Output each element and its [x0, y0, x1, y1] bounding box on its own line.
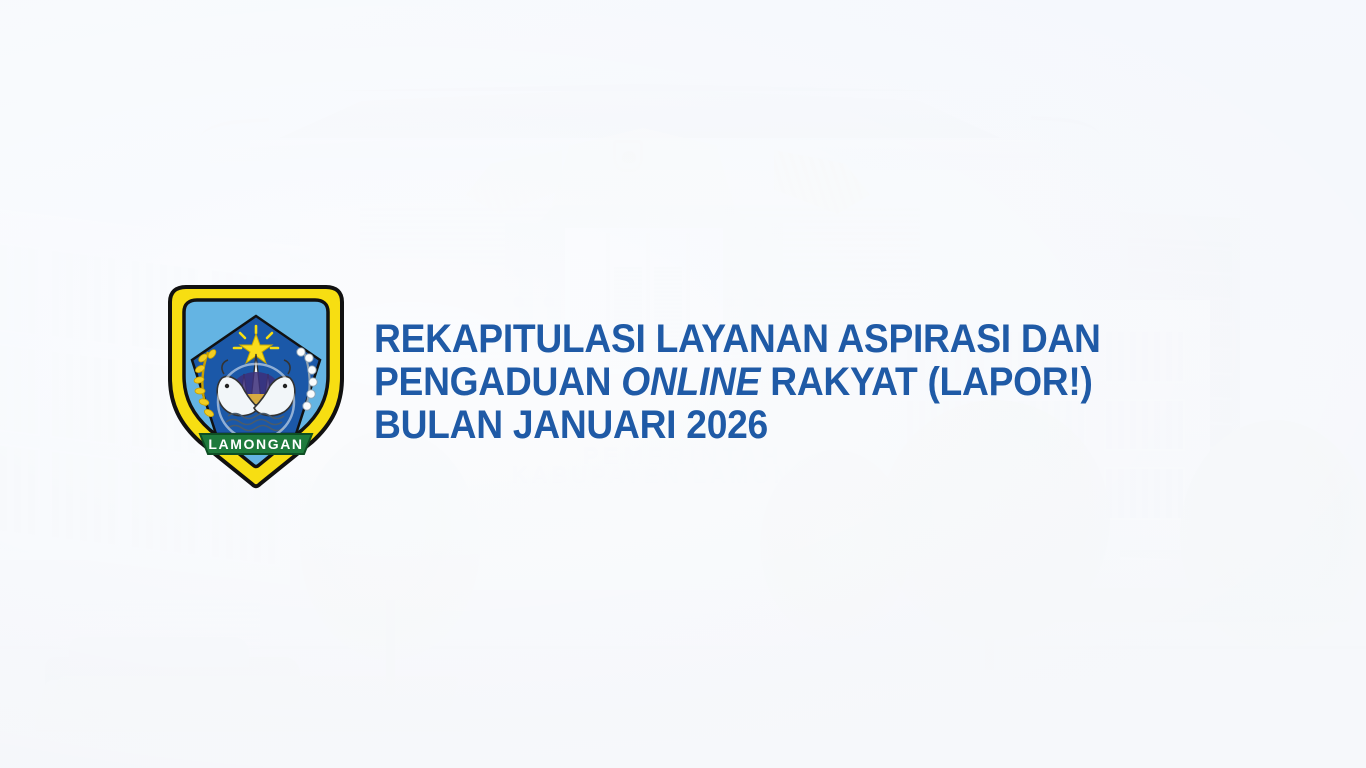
page-title: REKAPITULASI LAYANAN ASPIRASI DAN PENGAD…	[374, 318, 1244, 447]
title-line-2-italic-online: ONLINE	[621, 360, 760, 404]
title-line-1: REKAPITULASI LAYANAN ASPIRASI DAN	[374, 318, 1183, 361]
title-line-3: BULAN JANUARI 2026	[374, 404, 1183, 447]
lamongan-regency-emblem: LAMONGAN	[162, 282, 350, 490]
title-line-2-part-1: PENGADUAN	[374, 360, 621, 404]
title-line-2-part-2: RAKYAT (LAPOR!)	[760, 360, 1092, 404]
emblem-banner-text: LAMONGAN	[208, 436, 303, 452]
emblem-banner: LAMONGAN	[200, 434, 312, 454]
slide-content: LAMONGAN REKAPITULASI LAYANAN ASPIRASI D…	[0, 0, 1366, 768]
title-slide: PEMERINTAH KABUPATEN LAMONGAN	[0, 0, 1366, 768]
title-line-2: PENGADUAN ONLINE RAKYAT (LAPOR!)	[374, 361, 1183, 404]
